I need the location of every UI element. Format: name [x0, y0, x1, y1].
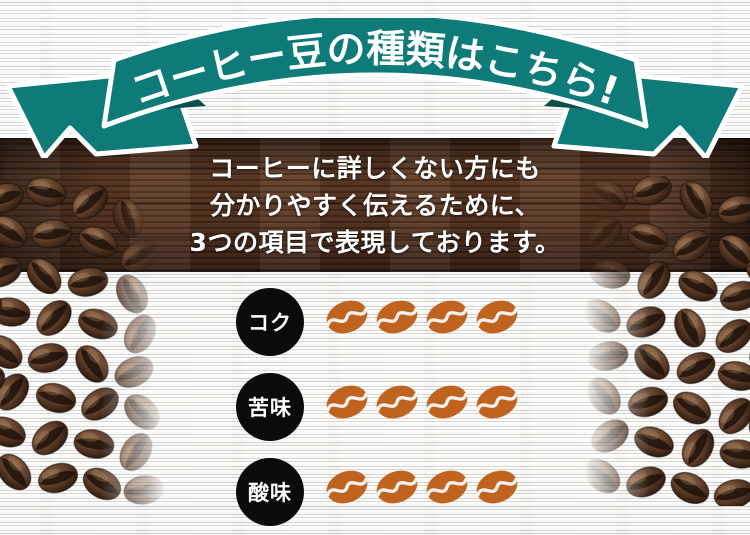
- rating-label-badge: 酸味: [236, 458, 304, 526]
- lead-line-1: コーヒーに詳しくない方にも: [0, 150, 750, 187]
- coffee-bean-icon: [425, 466, 469, 508]
- rating-label: 酸味: [248, 477, 292, 507]
- rating-label: 苦味: [248, 392, 292, 422]
- coffee-bean-icon: [375, 381, 419, 423]
- lead-paragraph: コーヒーに詳しくない方にも 分かりやすく伝えるために、 3つの項目で表現しており…: [0, 150, 750, 261]
- coffee-bean-icon: [425, 381, 469, 423]
- rating-beans-sanmi: [325, 466, 519, 508]
- rating-row: 酸味: [236, 458, 536, 535]
- coffee-bean-icon: [375, 296, 419, 338]
- promo-banner: コーヒー豆の種類はこちら! コーヒーに詳しくない方にも 分かりやすく伝えるために…: [0, 0, 750, 535]
- rating-beans-nigami: [325, 381, 519, 423]
- rating-label-badge: 苦味: [236, 373, 304, 441]
- coffee-bean-icon: [475, 466, 519, 508]
- rating-list: コク 苦味 酸味: [236, 288, 536, 535]
- lead-line-2: 分かりやすく伝えるために、: [0, 187, 750, 224]
- coffee-bean-icon: [325, 466, 369, 508]
- coffee-bean-icon: [325, 296, 369, 338]
- coffee-bean-icon: [325, 381, 369, 423]
- rating-row: コク: [236, 288, 536, 373]
- ribbon-banner: [0, 18, 750, 158]
- rating-row: 苦味: [236, 373, 536, 458]
- rating-label-badge: コク: [236, 288, 304, 356]
- rating-label: コク: [248, 307, 292, 337]
- lead-line-3: 3つの項目で表現しております。: [0, 224, 750, 261]
- rating-beans-koku: [325, 296, 519, 338]
- coffee-bean-icon: [475, 381, 519, 423]
- coffee-bean-icon: [425, 296, 469, 338]
- coffee-bean-icon: [475, 296, 519, 338]
- coffee-bean-icon: [375, 466, 419, 508]
